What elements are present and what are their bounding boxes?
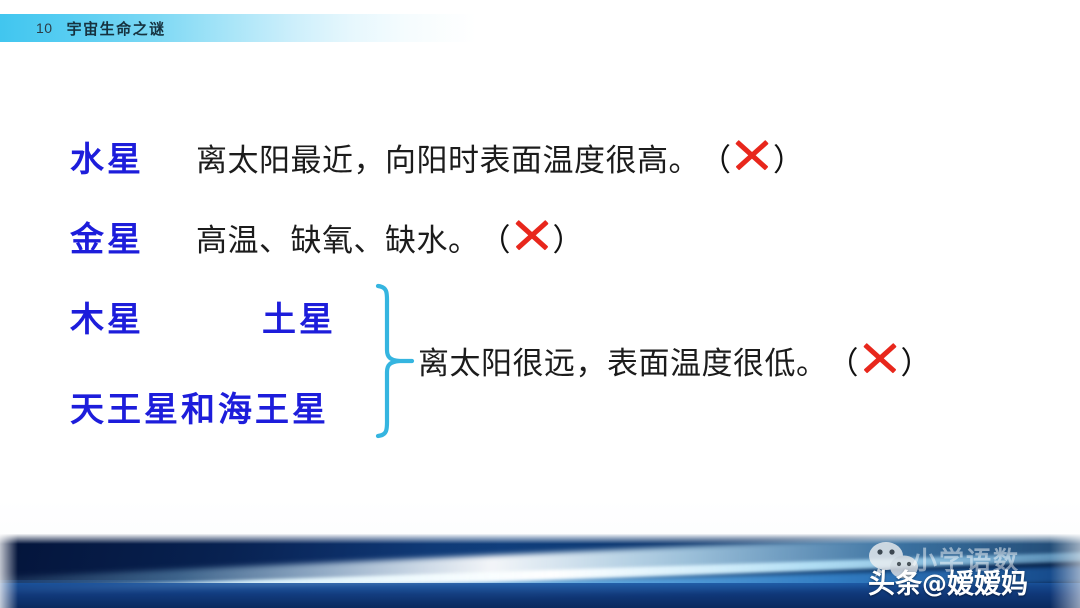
planet-description-venus: 高温、缺氧、缺水。 (196, 215, 480, 260)
planet-row-venus: 金星 高温、缺氧、缺水。 （ ） (70, 212, 584, 261)
watermark: 小学语数 头条@嫒嫒妈 (854, 540, 1074, 600)
watermark-username: 嫒嫒妈 (947, 569, 1028, 600)
lesson-number: 10 (36, 20, 53, 36)
open-paren-outer: （ (828, 338, 859, 383)
grouped-description-row: 离太阳很远，表面温度很低。 （ ） (418, 338, 932, 383)
planet-row-uranus-neptune: 天王星和海王星 (70, 382, 329, 431)
close-paren-venus: ） (553, 215, 584, 260)
planet-name-mercury: 水星 (70, 132, 144, 181)
cross-mark-icon (513, 219, 551, 251)
grouped-description: 离太阳很远，表面温度很低。 (418, 338, 828, 383)
planet-name-jupiter: 木星 (70, 292, 144, 341)
planet-row-mercury: 水星 离太阳最近，向阳时表面温度很高。 （ ） (70, 132, 804, 181)
close-paren-mercury: ） (773, 135, 804, 180)
banner-left-fade (0, 534, 18, 608)
planet-name-venus: 金星 (70, 212, 144, 261)
header: 10 宇宙生命之谜 (0, 14, 166, 42)
slide-canvas: 10 宇宙生命之谜 水星 离太阳最近，向阳时表面温度很高。 （ ） 金星 高温、… (0, 0, 1080, 608)
watermark-platform: 头条 (868, 569, 922, 600)
planet-row-jupiter-saturn: 木星 土星 (70, 292, 336, 341)
planet-description-mercury: 离太阳最近，向阳时表面温度很高。 (196, 135, 700, 180)
close-paren-outer: ） (901, 338, 932, 383)
cross-mark-icon (733, 139, 771, 171)
watermark-at-symbol: @ (922, 569, 947, 598)
watermark-handle: 头条@嫒嫒妈 (868, 562, 1028, 601)
page-title: 宇宙生命之谜 (67, 18, 166, 39)
open-paren-venus: （ (480, 215, 511, 260)
curly-brace-icon (372, 282, 416, 440)
planet-name-saturn: 土星 (262, 292, 336, 341)
open-paren-mercury: （ (700, 135, 731, 180)
cross-mark-icon (861, 342, 899, 374)
planet-name-uranus-neptune: 天王星和海王星 (70, 382, 329, 431)
